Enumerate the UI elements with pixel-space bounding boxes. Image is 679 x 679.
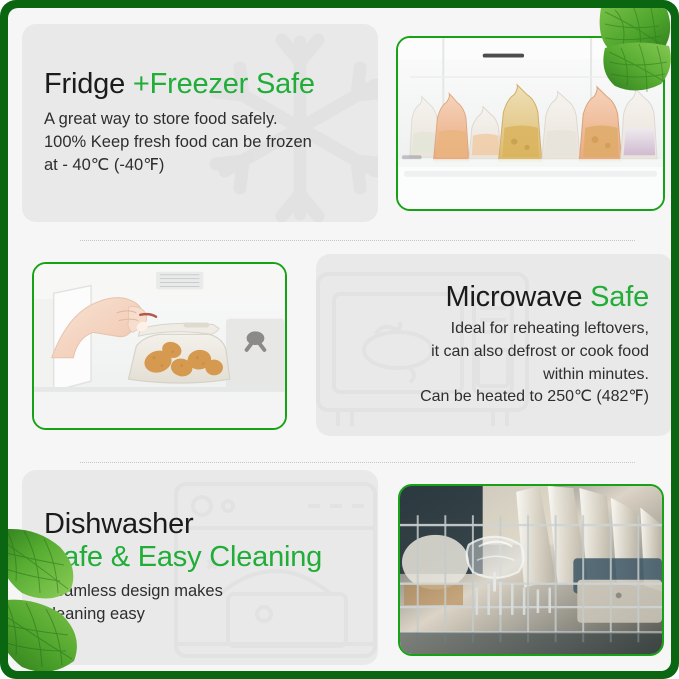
- panel-microwave-heading-accent: Safe: [590, 281, 649, 313]
- panel-fridge-heading-plain: Fridge: [44, 68, 133, 100]
- panel-fridge-heading: Fridge +Freezer Safe: [44, 68, 315, 100]
- product-feature-infographic: Fridge +Freezer Safe A great way to stor…: [0, 0, 679, 679]
- panel-fridge-heading-accent: +Freezer Safe: [133, 68, 315, 100]
- panel-microwave-heading-plain: Microwave: [445, 281, 590, 313]
- panel-microwave-heading: Microwave Safe: [445, 281, 649, 313]
- panel-dishwasher-heading: Dishwasher: [44, 508, 194, 540]
- section-divider-1: [80, 240, 635, 241]
- panel-microwave: Microwave Safe Ideal for reheating lefto…: [316, 254, 671, 436]
- panel-fridge-body: A great way to store food safely. 100% K…: [44, 108, 312, 178]
- infographic-canvas: Fridge +Freezer Safe A great way to stor…: [8, 8, 671, 671]
- panel-dishwasher-body: Seamless design makes cleaning easy: [44, 580, 223, 627]
- photo-fridge-shelf: [396, 36, 665, 211]
- photo-microwave-use: [32, 262, 287, 430]
- panel-dishwasher-heading-accent: Safe & Easy Cleaning: [44, 541, 322, 573]
- panel-microwave-body: Ideal for reheating leftovers, it can al…: [420, 318, 649, 409]
- section-divider-2: [80, 462, 635, 463]
- panel-fridge-freezer: Fridge +Freezer Safe A great way to stor…: [22, 24, 378, 222]
- panel-dishwasher: Dishwasher Safe & Easy Cleaning Seamless…: [22, 470, 378, 665]
- photo-dishwasher-rack: [398, 484, 664, 656]
